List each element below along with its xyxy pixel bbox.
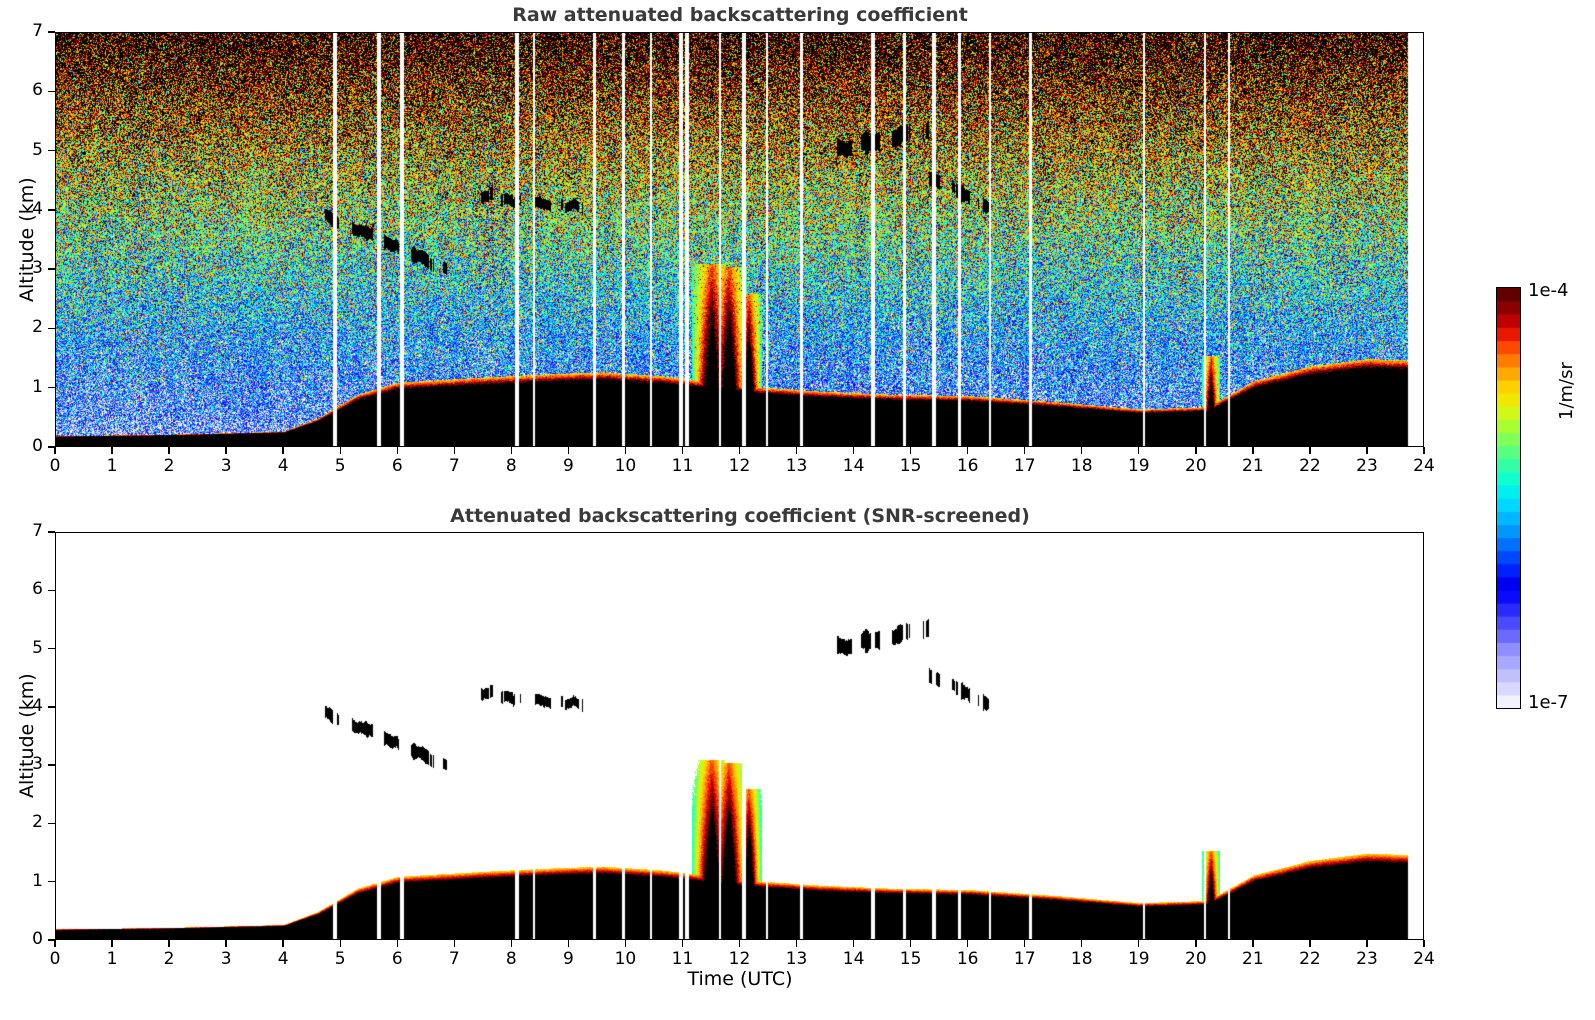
y-tick-screened-0 — [48, 939, 55, 940]
x-tick-screened-8 — [511, 940, 512, 947]
x-tick-raw-21 — [1252, 447, 1253, 454]
y-tick-label-raw-4: 4 — [17, 199, 43, 219]
y-tick-label-raw-0: 0 — [17, 436, 43, 456]
y-tick-screened-4 — [48, 706, 55, 707]
y-tick-label-screened-7: 7 — [17, 521, 43, 541]
x-tick-label-raw-21: 21 — [1233, 456, 1273, 476]
x-tick-raw-22 — [1309, 447, 1310, 454]
x-tick-label-screened-1: 1 — [92, 949, 132, 969]
x-tick-raw-6 — [397, 447, 398, 454]
x-tick-screened-11 — [682, 940, 683, 947]
x-tick-label-screened-8: 8 — [491, 949, 531, 969]
y-tick-label-screened-5: 5 — [17, 638, 43, 658]
x-tick-screened-19 — [1138, 940, 1139, 947]
x-tick-label-raw-13: 13 — [777, 456, 817, 476]
x-tick-screened-13 — [796, 940, 797, 947]
y-tick-raw-0 — [48, 446, 55, 447]
x-tick-raw-13 — [796, 447, 797, 454]
x-tick-label-screened-22: 22 — [1290, 949, 1330, 969]
y-tick-raw-1 — [48, 387, 55, 388]
x-tick-raw-8 — [511, 447, 512, 454]
y-tick-label-raw-6: 6 — [17, 80, 43, 100]
x-tick-label-screened-0: 0 — [35, 949, 75, 969]
x-tick-raw-1 — [111, 447, 112, 454]
x-tick-raw-9 — [568, 447, 569, 454]
x-tick-label-raw-11: 11 — [662, 456, 702, 476]
x-tick-label-screened-16: 16 — [948, 949, 988, 969]
x-tick-label-screened-20: 20 — [1176, 949, 1216, 969]
x-tick-label-screened-4: 4 — [263, 949, 303, 969]
x-tick-label-screened-5: 5 — [320, 949, 360, 969]
y-tick-label-screened-3: 3 — [17, 754, 43, 774]
y-tick-label-raw-2: 2 — [17, 317, 43, 337]
x-tick-screened-10 — [625, 940, 626, 947]
x-tick-raw-14 — [853, 447, 854, 454]
x-tick-label-raw-4: 4 — [263, 456, 303, 476]
x-tick-screened-24 — [1423, 940, 1424, 947]
x-tick-raw-4 — [282, 447, 283, 454]
x-tick-screened-2 — [168, 940, 169, 947]
colorbar-max-label: 1e-4 — [1528, 280, 1568, 301]
x-tick-label-screened-21: 21 — [1233, 949, 1273, 969]
x-tick-label-screened-18: 18 — [1062, 949, 1102, 969]
x-tick-label-screened-13: 13 — [777, 949, 817, 969]
x-tick-raw-12 — [739, 447, 740, 454]
x-tick-label-screened-9: 9 — [548, 949, 588, 969]
x-tick-label-screened-3: 3 — [206, 949, 246, 969]
x-axis-label: Time (UTC) — [0, 968, 1480, 990]
x-tick-screened-18 — [1081, 940, 1082, 947]
x-tick-screened-1 — [111, 940, 112, 947]
x-tick-label-raw-8: 8 — [491, 456, 531, 476]
colorbar — [1496, 287, 1521, 709]
x-tick-raw-17 — [1024, 447, 1025, 454]
x-tick-label-screened-19: 19 — [1119, 949, 1159, 969]
panel-title-screened: Attenuated backscattering coefficient (S… — [0, 505, 1480, 527]
x-tick-label-raw-0: 0 — [35, 456, 75, 476]
x-tick-screened-16 — [967, 940, 968, 947]
x-tick-label-screened-12: 12 — [720, 949, 760, 969]
x-tick-label-screened-23: 23 — [1347, 949, 1387, 969]
y-tick-screened-2 — [48, 823, 55, 824]
x-tick-label-raw-6: 6 — [377, 456, 417, 476]
x-tick-label-raw-17: 17 — [1005, 456, 1045, 476]
x-tick-label-raw-22: 22 — [1290, 456, 1330, 476]
y-tick-label-raw-1: 1 — [17, 377, 43, 397]
x-tick-label-raw-9: 9 — [548, 456, 588, 476]
x-tick-label-screened-14: 14 — [834, 949, 874, 969]
x-tick-screened-15 — [910, 940, 911, 947]
x-tick-label-raw-18: 18 — [1062, 456, 1102, 476]
x-tick-label-raw-10: 10 — [605, 456, 645, 476]
plot-area-raw — [55, 32, 1424, 447]
x-tick-label-screened-15: 15 — [891, 949, 931, 969]
x-tick-raw-16 — [967, 447, 968, 454]
x-tick-screened-7 — [454, 940, 455, 947]
x-tick-screened-22 — [1309, 940, 1310, 947]
x-tick-raw-2 — [168, 447, 169, 454]
x-tick-screened-6 — [397, 940, 398, 947]
x-tick-screened-5 — [340, 940, 341, 947]
x-tick-label-raw-20: 20 — [1176, 456, 1216, 476]
x-tick-label-raw-15: 15 — [891, 456, 931, 476]
y-tick-raw-4 — [48, 209, 55, 210]
y-tick-label-screened-6: 6 — [17, 579, 43, 599]
y-tick-raw-3 — [48, 268, 55, 269]
x-tick-label-raw-5: 5 — [320, 456, 360, 476]
x-tick-screened-4 — [282, 940, 283, 947]
x-tick-screened-23 — [1366, 940, 1367, 947]
x-tick-label-screened-24: 24 — [1404, 949, 1444, 969]
x-tick-raw-7 — [454, 447, 455, 454]
x-tick-label-screened-2: 2 — [149, 949, 189, 969]
y-tick-label-screened-0: 0 — [17, 929, 43, 949]
x-tick-label-raw-12: 12 — [720, 456, 760, 476]
x-tick-label-raw-3: 3 — [206, 456, 246, 476]
x-tick-raw-10 — [625, 447, 626, 454]
y-tick-raw-5 — [48, 150, 55, 151]
x-tick-raw-11 — [682, 447, 683, 454]
y-tick-label-screened-1: 1 — [17, 871, 43, 891]
x-tick-label-raw-1: 1 — [92, 456, 132, 476]
plot-area-screened — [55, 532, 1424, 940]
x-tick-raw-19 — [1138, 447, 1139, 454]
x-tick-label-raw-16: 16 — [948, 456, 988, 476]
y-tick-screened-7 — [48, 531, 55, 532]
x-tick-label-raw-24: 24 — [1404, 456, 1444, 476]
x-tick-label-raw-7: 7 — [434, 456, 474, 476]
x-tick-label-screened-17: 17 — [1005, 949, 1045, 969]
x-tick-raw-20 — [1195, 447, 1196, 454]
x-tick-screened-21 — [1252, 940, 1253, 947]
y-tick-raw-6 — [48, 91, 55, 92]
y-axis-label-screened: Altitude (km) — [16, 673, 38, 798]
y-tick-label-screened-2: 2 — [17, 812, 43, 832]
colorbar-unit-label: 1/m/sr — [1556, 362, 1577, 420]
x-tick-label-screened-6: 6 — [377, 949, 417, 969]
panel-title-raw: Raw attenuated backscattering coefficien… — [0, 4, 1480, 26]
x-tick-label-raw-2: 2 — [149, 456, 189, 476]
y-tick-raw-7 — [48, 31, 55, 32]
y-tick-screened-1 — [48, 881, 55, 882]
x-tick-screened-0 — [54, 940, 55, 947]
x-tick-screened-9 — [568, 940, 569, 947]
x-tick-label-raw-14: 14 — [834, 456, 874, 476]
x-tick-screened-12 — [739, 940, 740, 947]
y-tick-screened-6 — [48, 590, 55, 591]
x-tick-raw-24 — [1423, 447, 1424, 454]
x-tick-screened-20 — [1195, 940, 1196, 947]
y-tick-label-raw-5: 5 — [17, 140, 43, 160]
x-tick-label-screened-10: 10 — [605, 949, 645, 969]
x-tick-label-screened-7: 7 — [434, 949, 474, 969]
colorbar-min-label: 1e-7 — [1528, 692, 1568, 713]
x-tick-label-screened-11: 11 — [662, 949, 702, 969]
x-tick-screened-14 — [853, 940, 854, 947]
y-tick-screened-3 — [48, 764, 55, 765]
x-tick-raw-3 — [225, 447, 226, 454]
y-tick-label-raw-3: 3 — [17, 258, 43, 278]
x-tick-raw-0 — [54, 447, 55, 454]
y-tick-raw-2 — [48, 328, 55, 329]
x-tick-screened-17 — [1024, 940, 1025, 947]
x-tick-raw-15 — [910, 447, 911, 454]
y-axis-label-raw: Altitude (km) — [16, 177, 38, 302]
x-tick-label-raw-19: 19 — [1119, 456, 1159, 476]
y-tick-label-raw-7: 7 — [17, 21, 43, 41]
lidar-backscatter-figure: Raw attenuated backscattering coefficien… — [0, 0, 1595, 1020]
x-tick-raw-18 — [1081, 447, 1082, 454]
x-tick-raw-5 — [340, 447, 341, 454]
y-tick-label-screened-4: 4 — [17, 696, 43, 716]
x-tick-screened-3 — [225, 940, 226, 947]
x-tick-raw-23 — [1366, 447, 1367, 454]
x-tick-label-raw-23: 23 — [1347, 456, 1387, 476]
y-tick-screened-5 — [48, 648, 55, 649]
